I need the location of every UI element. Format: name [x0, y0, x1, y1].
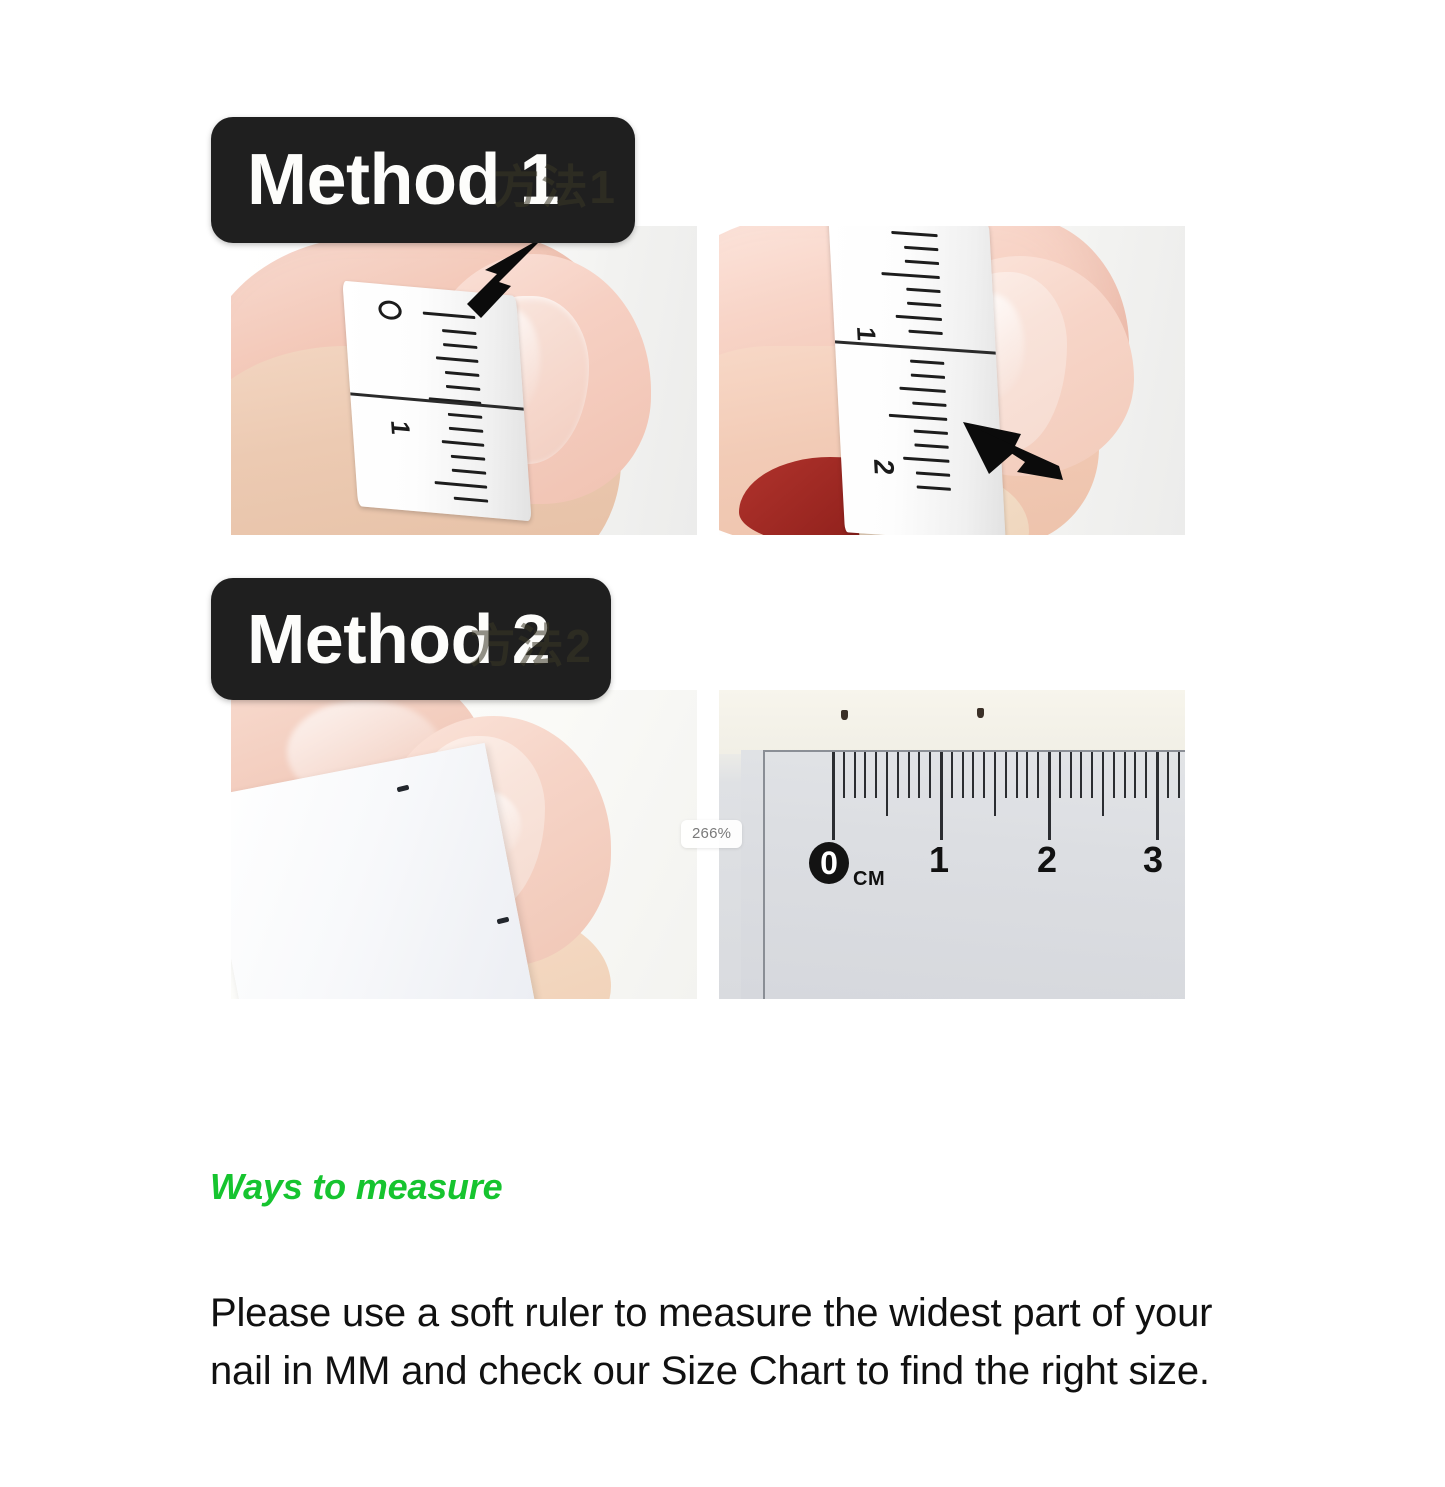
ruler-minor-tick: [897, 752, 899, 798]
ruler-minor-tick: [843, 752, 845, 798]
ruler-minor-tick: [918, 752, 920, 798]
pointer-arrow-icon: [959, 418, 1069, 490]
ruler-minor-tick: [1070, 752, 1072, 798]
ruler-major-tick: [940, 752, 943, 840]
ruler-minor-tick: [1016, 752, 1018, 798]
pointer-arrow-icon: [459, 230, 549, 326]
ruler-minor-tick: [1037, 752, 1039, 798]
ruler-minor-tick: [1167, 752, 1169, 798]
ruler-minor-tick: [1134, 752, 1136, 798]
dust-speck: [977, 708, 984, 718]
ruler-minor-tick: [875, 752, 877, 798]
method-1-badge-label: Method 1: [247, 139, 559, 221]
ruler-minor-tick: [854, 752, 856, 798]
ruler-minor-tick: [1091, 752, 1093, 798]
ruler-minor-tick: [1145, 752, 1147, 798]
ruler-minor-tick: [962, 752, 964, 798]
ruler-minor-tick: [994, 752, 996, 816]
ruler-minor-tick: [864, 752, 866, 798]
ruler-minor-tick: [1080, 752, 1082, 798]
ruler-unit-label: CM: [853, 868, 885, 891]
dust-speck: [841, 710, 848, 720]
ruler-minor-tick: [1059, 752, 1061, 798]
ruler-minor-tick: [972, 752, 974, 798]
ways-to-measure-heading: Ways to measure: [210, 1166, 502, 1208]
ruler-major-tick: [832, 752, 835, 840]
zoom-level-indicator[interactable]: 266%: [681, 820, 742, 848]
ruler-minor-tick: [886, 752, 888, 816]
table-surface: [719, 690, 1185, 754]
method-2-badge: 方法2 Method 2: [211, 578, 611, 700]
ruler-left-edge: [763, 750, 765, 999]
method-1-photo-right: 1 2: [719, 226, 1185, 535]
ruler-major-tick: [1048, 752, 1051, 840]
method-1-photo-left: 1: [231, 226, 697, 535]
ruler-minor-tick: [1005, 752, 1007, 798]
ruler-number-1: 1: [929, 842, 949, 878]
method-1-photo-row: 1: [231, 226, 1185, 535]
method-2-photo-left: [231, 690, 697, 999]
ruler-minor-tick: [983, 752, 985, 798]
ruler-zero-marker: 0: [809, 842, 849, 884]
ruler-minor-tick: [1113, 752, 1115, 798]
ruler-minor-tick: [1026, 752, 1028, 798]
ruler-major-tick: [1156, 752, 1159, 840]
measure-instructions-paragraph: Please use a soft ruler to measure the w…: [210, 1284, 1245, 1400]
ruler-number-3: 3: [1143, 842, 1163, 878]
method-2-photo-right: 0 CM 1 2 3: [719, 690, 1185, 999]
method-2-badge-label: Method 2: [247, 599, 550, 679]
ruler-minor-tick: [908, 752, 910, 798]
ruler-minor-tick: [1102, 752, 1104, 816]
ruler-number-2: 2: [1037, 842, 1057, 878]
ruler-minor-tick: [951, 752, 953, 798]
ruler-minor-tick: [1124, 752, 1126, 798]
ruler-minor-tick: [929, 752, 931, 798]
ruler-minor-tick: [1178, 752, 1180, 798]
method-1-badge: 方法1 Method 1: [211, 117, 635, 243]
ruler-zero-label: 0: [820, 845, 838, 882]
